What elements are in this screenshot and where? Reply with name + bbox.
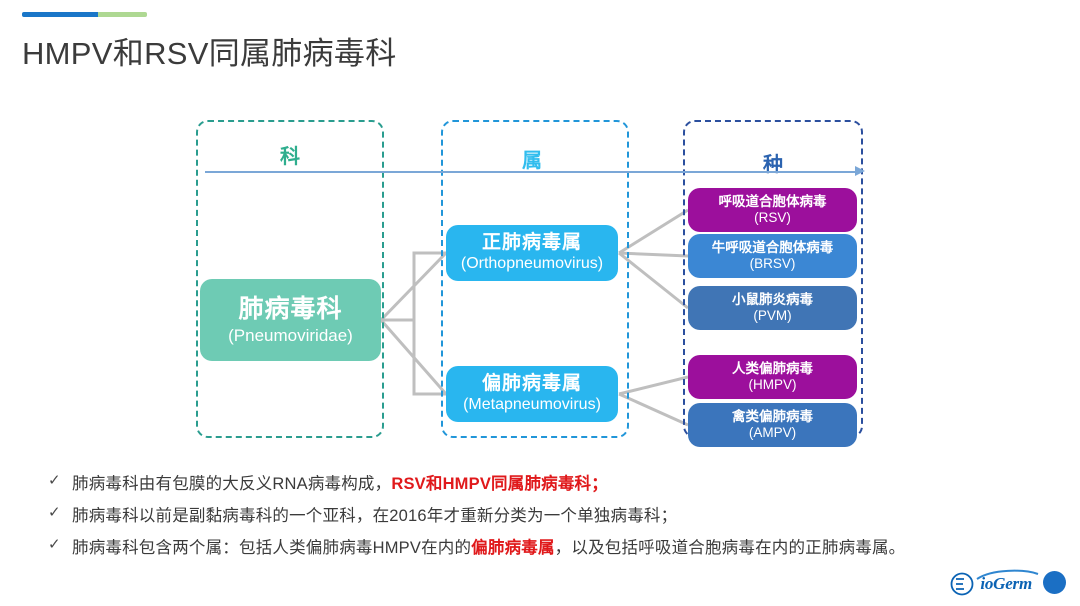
- node-family-pneumoviridae[interactable]: 肺病毒科 (Pneumoviridae): [200, 279, 381, 361]
- node-label-en: (Pneumoviridae): [228, 326, 353, 346]
- node-label-cn: 禽类偏肺病毒: [732, 409, 813, 425]
- biogerm-mark-icon: [950, 572, 976, 596]
- node-species-rsv[interactable]: 呼吸道合胞体病毒 (RSV): [688, 188, 857, 232]
- bullet-text-segment: 肺病毒科由有包膜的大反义RNA病毒构成，: [72, 475, 391, 493]
- check-icon: ✓: [48, 534, 72, 553]
- bullet-item: ✓ 肺病毒科以前是副黏病毒科的一个亚科，在2016年才重新分类为一个单独病毒科；: [48, 502, 1048, 526]
- node-label-cn: 小鼠肺炎病毒: [732, 292, 813, 308]
- node-label-cn: 偏肺病毒属: [482, 373, 582, 395]
- node-label-en: (RSV): [754, 210, 791, 226]
- bullet-item: ✓ 肺病毒科由有包膜的大反义RNA病毒构成，RSV和HMPV同属肺病毒科；: [48, 470, 1048, 494]
- node-label-cn: 正肺病毒属: [482, 232, 582, 254]
- column-label-genus: 属: [492, 144, 572, 173]
- node-label-en: (BRSV): [750, 256, 796, 272]
- footer-dot-icon: [1043, 571, 1066, 594]
- bullet-text-emphasis: 偏肺病毒属: [471, 539, 555, 557]
- bullet-text: 肺病毒科包含两个属：包括人类偏肺病毒HMPV在内的偏肺病毒属，以及包括呼吸道合胞…: [72, 534, 905, 558]
- bullet-text-segment: 肺病毒科包含两个属：包括人类偏肺病毒HMPV在内的: [72, 539, 471, 557]
- node-label-en: (PVM): [753, 308, 791, 324]
- node-label-cn: 呼吸道合胞体病毒: [719, 194, 827, 210]
- node-label-cn: 肺病毒科: [238, 295, 342, 324]
- node-label-en: (Orthopneumovirus): [461, 255, 603, 274]
- bullet-list: ✓ 肺病毒科由有包膜的大反义RNA病毒构成，RSV和HMPV同属肺病毒科； ✓ …: [48, 470, 1048, 566]
- bullet-item: ✓ 肺病毒科包含两个属：包括人类偏肺病毒HMPV在内的偏肺病毒属，以及包括呼吸道…: [48, 534, 1048, 558]
- node-label-en: (Metapneumovirus): [463, 396, 601, 415]
- bullet-text-segment: 肺病毒科以前是副黏病毒科的一个亚科，在2016年才重新分类为一个单独病毒科；: [72, 507, 677, 525]
- logo-swoosh-icon: [976, 569, 1040, 581]
- bullet-text: 肺病毒科由有包膜的大反义RNA病毒构成，RSV和HMPV同属肺病毒科；: [72, 470, 608, 494]
- hierarchy-axis-arrow-icon: [855, 166, 865, 176]
- node-species-brsv[interactable]: 牛呼吸道合胞体病毒 (BRSV): [688, 234, 857, 278]
- node-species-ampv[interactable]: 禽类偏肺病毒 (AMPV): [688, 403, 857, 447]
- footer-logo: ioGerm: [950, 572, 1032, 596]
- node-label-cn: 人类偏肺病毒: [732, 361, 813, 377]
- node-genus-orthopneumovirus[interactable]: 正肺病毒属 (Orthopneumovirus): [446, 225, 618, 281]
- column-label-family: 科: [250, 140, 330, 169]
- check-icon: ✓: [48, 502, 72, 521]
- check-icon: ✓: [48, 470, 72, 489]
- node-species-pvm[interactable]: 小鼠肺炎病毒 (PVM): [688, 286, 857, 330]
- bullet-text: 肺病毒科以前是副黏病毒科的一个亚科，在2016年才重新分类为一个单独病毒科；: [72, 502, 677, 526]
- node-label-en: (AMPV): [749, 425, 796, 441]
- bullet-text-emphasis: RSV和HMPV同属肺病毒科；: [391, 475, 608, 493]
- node-label-cn: 牛呼吸道合胞体病毒: [712, 240, 834, 256]
- node-species-hmpv[interactable]: 人类偏肺病毒 (HMPV): [688, 355, 857, 399]
- node-genus-metapneumovirus[interactable]: 偏肺病毒属 (Metapneumovirus): [446, 366, 618, 422]
- hierarchy-axis-line: [205, 171, 860, 173]
- bullet-text-segment: ，以及包括呼吸道合胞病毒在内的正肺病毒属。: [555, 539, 906, 557]
- node-label-en: (HMPV): [749, 377, 797, 393]
